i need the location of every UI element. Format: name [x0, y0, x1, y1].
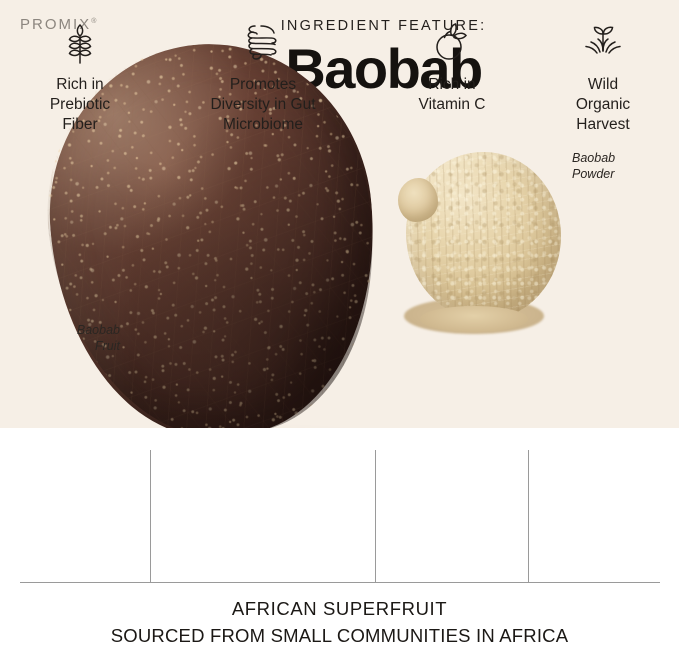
- powder-grain-texture: [406, 152, 561, 320]
- benefit-label: Promotes Diversity in Gut Microbiome: [210, 75, 315, 135]
- wheat-stalk-icon: [61, 18, 99, 66]
- benefit-item-gut-microbiome: Promotes Diversity in Gut Microbiome: [160, 18, 366, 135]
- benefit-divider: [375, 450, 376, 582]
- sprout-icon: [580, 18, 626, 66]
- benefit-label: Wild Organic Harvest: [576, 75, 630, 135]
- horizontal-divider: [20, 582, 660, 583]
- benefit-divider: [528, 450, 529, 582]
- benefit-item-prebiotic-fiber: Rich in Prebiotic Fiber: [10, 18, 150, 135]
- footer-line-2: SOURCED FROM SMALL COMMUNITIES IN AFRICA: [0, 623, 679, 650]
- caption-baobab-powder: Baobab Powder: [572, 150, 672, 182]
- baobab-powder-image: [398, 148, 570, 338]
- ingredient-feature-infographic: PROMIX® INGREDIENT FEATURE: Baobab Baoba…: [0, 0, 679, 658]
- benefit-label: Rich in Prebiotic Fiber: [50, 75, 110, 135]
- caption-baobab-fruit: Baobab Fruit: [14, 322, 120, 354]
- footer-tagline: AFRICAN SUPERFRUIT SOURCED FROM SMALL CO…: [0, 596, 679, 650]
- footer-line-1: AFRICAN SUPERFRUIT: [0, 596, 679, 623]
- powder-body: [406, 152, 561, 320]
- benefits-row: [0, 428, 679, 584]
- intestine-icon: [241, 18, 285, 66]
- benefit-label: Rich in Vitamin C: [419, 75, 486, 115]
- benefit-item-wild-organic-harvest: Wild Organic Harvest: [538, 18, 668, 135]
- powder-lump: [398, 178, 438, 222]
- powder-foot: [420, 306, 528, 332]
- citrus-fruit-icon: [430, 18, 474, 66]
- benefit-divider: [150, 450, 151, 582]
- benefit-item-vitamin-c: Rich in Vitamin C: [382, 18, 522, 115]
